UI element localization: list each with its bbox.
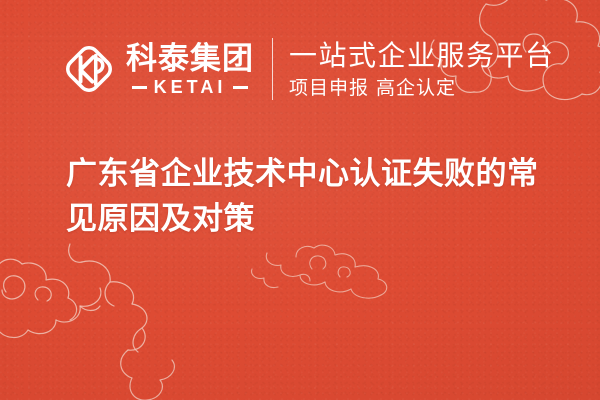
cloud-pattern-bottom-left-icon bbox=[0, 238, 230, 400]
logo-dash-right bbox=[233, 86, 248, 89]
logo-wordmark: 科泰集团 KETAI bbox=[126, 42, 254, 97]
header-divider bbox=[272, 38, 273, 100]
tagline-sub: 项目申报 高企认定 bbox=[289, 77, 555, 99]
company-name-en-row: KETAI bbox=[126, 78, 254, 97]
tagline-main: 一站式企业服务平台 bbox=[289, 40, 555, 72]
company-name-cn: 科泰集团 bbox=[126, 42, 254, 76]
page-title: 广东省企业技术中心认证失败的常见原因及对策 bbox=[66, 152, 562, 242]
company-logo[interactable]: 科泰集团 KETAI bbox=[62, 42, 254, 97]
tagline-block: 一站式企业服务平台 项目申报 高企认定 bbox=[289, 40, 555, 99]
ketai-diamond-k-logo-icon bbox=[62, 42, 116, 96]
promo-banner: 科泰集团 KETAI 一站式企业服务平台 项目申报 高企认定 广东省企业技术中心… bbox=[0, 0, 600, 400]
logo-dash-left bbox=[132, 86, 147, 89]
cloud-pattern-center-icon bbox=[250, 243, 390, 303]
brand-header: 科泰集团 KETAI 一站式企业服务平台 项目申报 高企认定 bbox=[62, 38, 555, 100]
company-name-en: KETAI bbox=[154, 78, 227, 97]
